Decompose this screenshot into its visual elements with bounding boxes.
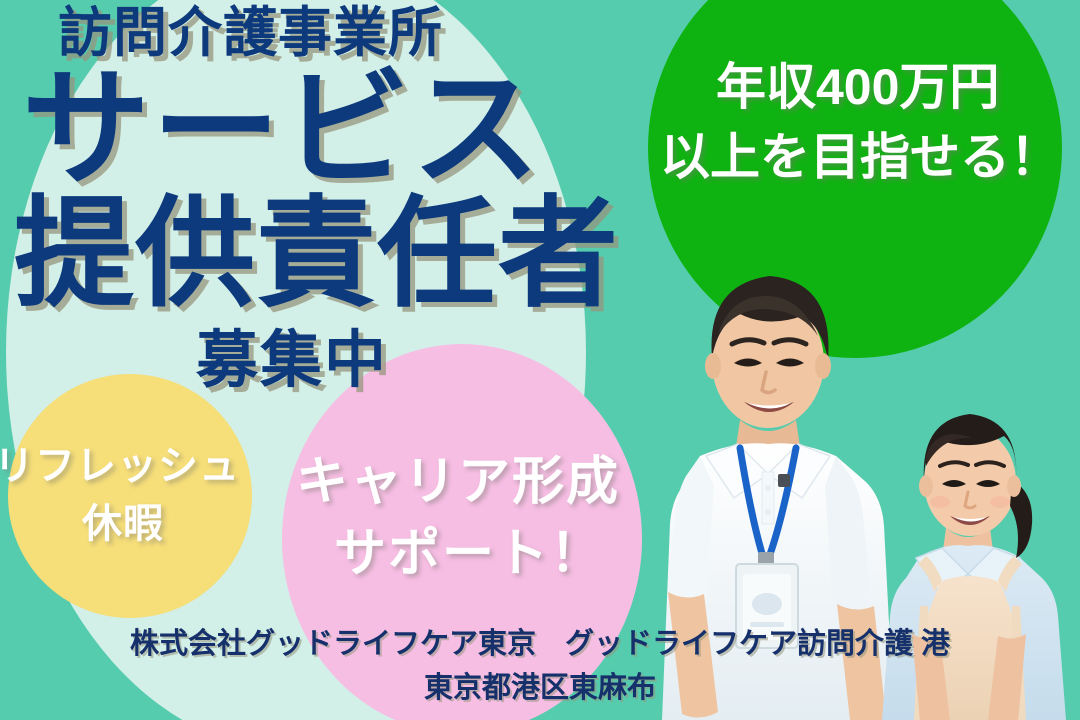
salary-badge-line-2: 以上を目指せる！ (660, 132, 1060, 182)
holiday-badge-line-1: リフレッシュ (0, 446, 240, 486)
holiday-badge-line-2: 休暇 (82, 504, 164, 544)
title-line-1: サービス (22, 66, 542, 194)
career-badge-line-2: サポート！ (334, 528, 604, 580)
footer-address-line: 東京都港区東麻布 (0, 674, 1080, 703)
job-ad-poster: 訪問介護事業所 サービス 提供責任者 募集中 年収400万円 以上を目指せる！ … (0, 0, 1080, 720)
career-badge-line-1: キャリア形成 (296, 456, 620, 508)
yellow-circle-shape (8, 374, 252, 618)
eyebrow-text: 訪問介護事業所 (58, 6, 443, 60)
recruiting-status: 募集中 (196, 330, 388, 392)
title-line-2: 提供責任者 (14, 194, 619, 314)
footer-company-line: 株式会社グッドライフケア東京 グッドライフケア訪問介護 港 (0, 630, 1080, 659)
salary-badge-line-1: 年収400万円 (716, 62, 999, 112)
